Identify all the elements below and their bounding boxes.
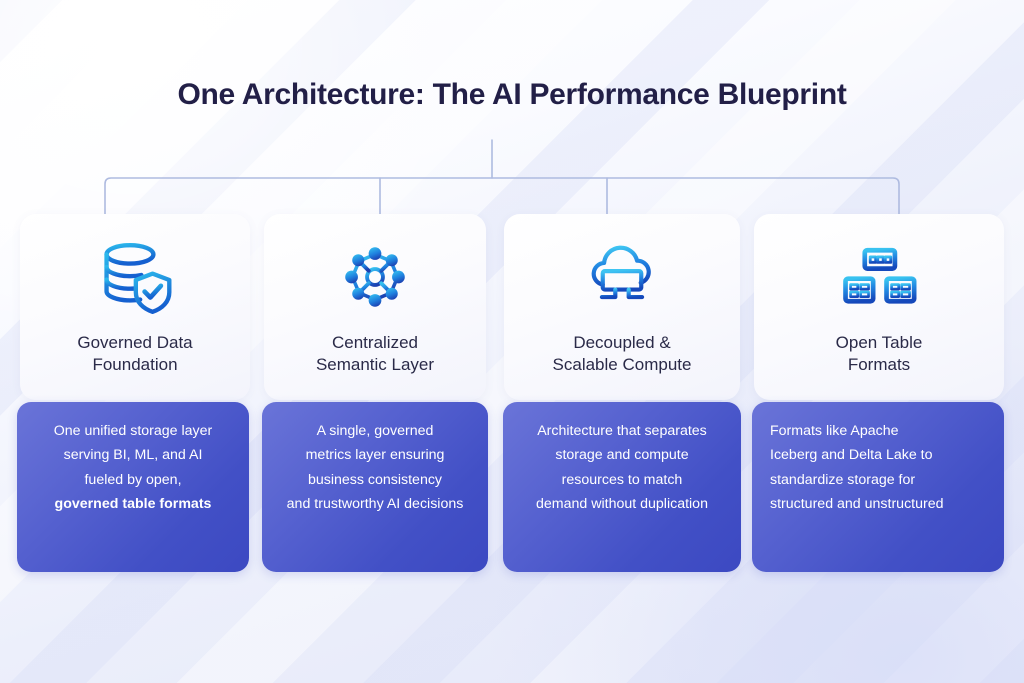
- infographic-root: One Architecture: The AI Performance Blu…: [0, 0, 1024, 683]
- card-title-line1: Open Table: [836, 333, 923, 352]
- card-title-line2: Foundation: [92, 355, 177, 374]
- panel-line: resources to match: [521, 468, 723, 492]
- panel-line: Formats like Apache: [770, 419, 986, 443]
- card-centralized-semantic-layer[interactable]: Centralized Semantic Layer: [264, 214, 486, 400]
- card-title: Governed Data Foundation: [67, 332, 202, 377]
- panel-line: One unified storage layer: [35, 419, 231, 443]
- card-title-line1: Centralized: [332, 333, 418, 352]
- panel-line: A single, governed: [280, 419, 470, 443]
- table-hierarchy-icon: [837, 236, 921, 318]
- database-shield-icon: [93, 236, 177, 318]
- panel-line: storage and compute: [521, 443, 723, 467]
- panel-line: and trustworthy AI decisions: [280, 492, 470, 516]
- page-title: One Architecture: The AI Performance Blu…: [0, 78, 1024, 112]
- cards-row: Governed Data Foundation One unified sto…: [0, 214, 1024, 564]
- connector-bus: [105, 178, 899, 214]
- card-title: Decoupled & Scalable Compute: [543, 332, 702, 377]
- card-title: Centralized Semantic Layer: [306, 332, 444, 377]
- panel-line: Architecture that separates: [521, 419, 723, 443]
- card-title-line2: Semantic Layer: [316, 355, 434, 374]
- panel-line: fueled by open,: [35, 468, 231, 492]
- card-title-line2: Scalable Compute: [553, 355, 692, 374]
- panel-governed-data-foundation: One unified storage layer serving BI, ML…: [17, 402, 249, 572]
- panel-decoupled-scalable-compute: Architecture that separates storage and …: [503, 402, 741, 572]
- cloud-server-icon: [580, 236, 664, 318]
- panel-line: metrics layer ensuring: [280, 443, 470, 467]
- panel-line: structured and unstructured: [770, 492, 986, 516]
- card-decoupled-scalable-compute[interactable]: Decoupled & Scalable Compute: [504, 214, 740, 400]
- card-title: Open Table Formats: [826, 332, 933, 377]
- card-title-line1: Decoupled &: [573, 333, 670, 352]
- panel-centralized-semantic-layer: A single, governed metrics layer ensurin…: [262, 402, 488, 572]
- panel-line-emphasis: governed table formats: [35, 492, 231, 516]
- panel-line: standardize storage for: [770, 468, 986, 492]
- panel-open-table-formats: Formats like Apache Iceberg and Delta La…: [752, 402, 1004, 572]
- panel-line: serving BI, ML, and AI: [35, 443, 231, 467]
- panel-line: Iceberg and Delta Lake to: [770, 443, 986, 467]
- panel-line: business consistency: [280, 468, 470, 492]
- card-governed-data-foundation[interactable]: Governed Data Foundation: [20, 214, 250, 400]
- panel-line: demand without duplication: [521, 492, 723, 516]
- card-title-line2: Formats: [848, 355, 910, 374]
- card-title-line1: Governed Data: [77, 333, 192, 352]
- network-nodes-icon: [333, 236, 417, 318]
- card-open-table-formats[interactable]: Open Table Formats: [754, 214, 1004, 400]
- connector-lines: [0, 130, 1024, 225]
